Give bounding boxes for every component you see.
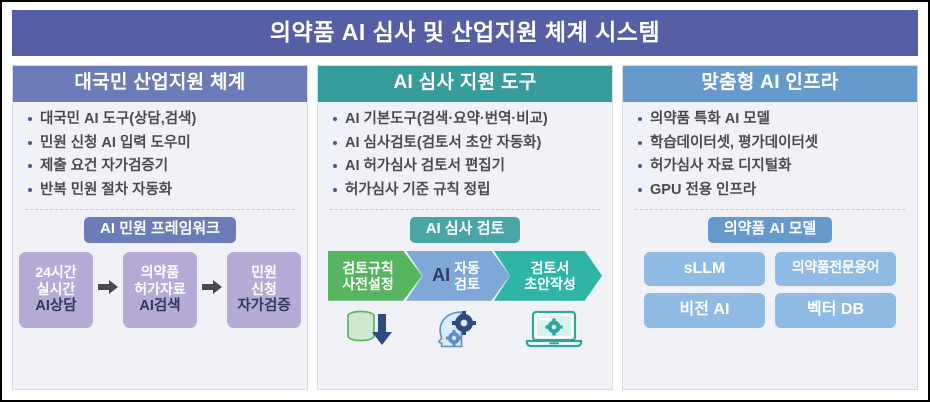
chevron-line2: 사전설정 [342,276,394,292]
chevron-line2: 검토 [454,276,480,292]
section-label-ai-minwon-framework: AI 민원 프레임워크 [84,217,236,243]
flow-box-line2: 허가자료 [134,282,186,298]
card-ai-review-tools: AI 심사 지원 도구 AI 기본도구(검색·요약·번역·비교) AI 심사검토… [317,65,613,390]
columns-container: 대국민 산업지원 체계 대국민 AI 도구(상담,검색) 민원 신청 AI 입력… [12,65,918,390]
flow-box-self-verification: 민원 신청 자가검증 [227,252,301,328]
list-item: 반복 민원 절차 자동화 [27,183,307,198]
list-item: 허가심사 기준 규칙 정립 [332,183,612,198]
list-item: AI 기본도구(검색·요약·번역·비교) [332,112,612,127]
list-item: 제출 요건 자가검증기 [27,159,307,174]
card-header-col1: 대국민 산업지원 체계 [13,66,307,102]
card-header-col2: AI 심사 지원 도구 [318,66,612,102]
chevron-line2: 초안작성 [524,276,576,292]
grid-box-vision-ai: 비전 AI [644,293,765,328]
bullet-list-col2: AI 기본도구(검색·요약·번역·비교) AI 심사검토(검토서 초안 자동화)… [318,102,612,203]
flow-diagram-col1: 24시간 실시간 AI상담 의약품 허가자료 AI검색 [19,252,301,328]
chevron-draft-writing: 검토서 초안작성 [494,251,602,301]
flow-box-line1: 24시간 [35,265,76,281]
chevron-line1: 자동 [454,260,480,276]
bullet-list-col3: 의약품 특화 AI 모델 학습데이터셋, 평가데이터셋 허가심사 자료 디지털화… [623,102,917,203]
section-label-pharma-ai-model: 의약품 AI 모델 [708,217,832,243]
page-title: 의약품 AI 심사 및 산업지원 체계 시스템 [12,10,918,56]
diagram-inner: 의약품 AI 심사 및 산업지원 체계 시스템 대국민 산업지원 체계 대국민 … [2,2,928,400]
card-lower-col1: AI 민원 프레임워크 24시간 실시간 AI상담 [13,210,307,389]
grid-box-sllm: sLLM [644,252,765,287]
chevron-prefix-ai: AI [432,265,450,286]
bullet-list-col1: 대국민 AI 도구(상담,검색) 민원 신청 AI 입력 도우미 제출 요건 자… [13,102,307,203]
flow-box-line2: 신청 [251,282,277,298]
list-item: GPU 전용 인프라 [637,183,917,198]
chevron-flow-col2: 검토규칙 사전설정 AI 자동 검토 [328,251,602,301]
chevron-line1: 검토규칙 [342,260,394,276]
list-item: 허가심사 자료 디지털화 [637,159,917,174]
grid-box-pharma-terminology: 의약품전문용어 [775,252,896,287]
flow-box-line1: 의약품 [141,265,180,281]
database-down-arrow-icon [328,308,412,350]
flow-box-line3: AI검색 [139,298,180,314]
card-header-col3: 맞춤형 AI 인프라 [623,66,917,102]
grid-box-vector-db: 벡터 DB [775,293,896,328]
chevron-rule-preset: 검토규칙 사전설정 [328,251,422,301]
icons-row-col2 [328,308,602,350]
flow-box-line1: 민원 [251,265,277,281]
list-item: 민원 신청 AI 입력 도우미 [27,136,307,151]
card-custom-ai-infra: 맞춤형 AI 인프라 의약품 특화 AI 모델 학습데이터셋, 평가데이터셋 허… [622,65,918,390]
flow-box-line2: 실시간 [37,282,76,298]
section-label-ai-review: AI 심사 검토 [410,217,521,243]
arrow-right-icon [201,277,223,302]
model-grid-col3: sLLM 의약품전문용어 비전 AI 벡터 DB [644,252,896,328]
flow-box-line3: 자가검증 [237,298,290,314]
diagram-root: 의약품 AI 심사 및 산업지원 체계 시스템 대국민 산업지원 체계 대국민 … [0,0,930,402]
laptop-gear-icon [505,308,602,350]
flow-box-line3: AI상담 [35,298,76,314]
list-item: 학습데이터셋, 평가데이터셋 [637,136,917,151]
chevron-line1: 검토서 [524,260,576,276]
flow-box-ai-consult: 24시간 실시간 AI상담 [19,252,93,328]
card-lower-col3: 의약품 AI 모델 sLLM 의약품전문용어 비전 AI 벡터 DB [623,210,917,389]
card-public-industry-support: 대국민 산업지원 체계 대국민 AI 도구(상담,검색) 민원 신청 AI 입력… [12,65,308,390]
list-item: AI 허가심사 검토서 편집기 [332,159,612,174]
head-gears-icon [412,308,505,350]
arrow-right-icon [97,277,119,302]
list-item: 의약품 특화 AI 모델 [637,112,917,127]
list-item: 대국민 AI 도구(상담,검색) [27,112,307,127]
card-lower-col2: AI 심사 검토 검토규칙 사전설정 AI [318,210,612,389]
flow-box-ai-search: 의약품 허가자료 AI검색 [123,252,197,328]
list-item: AI 심사검토(검토서 초안 자동화) [332,136,612,151]
